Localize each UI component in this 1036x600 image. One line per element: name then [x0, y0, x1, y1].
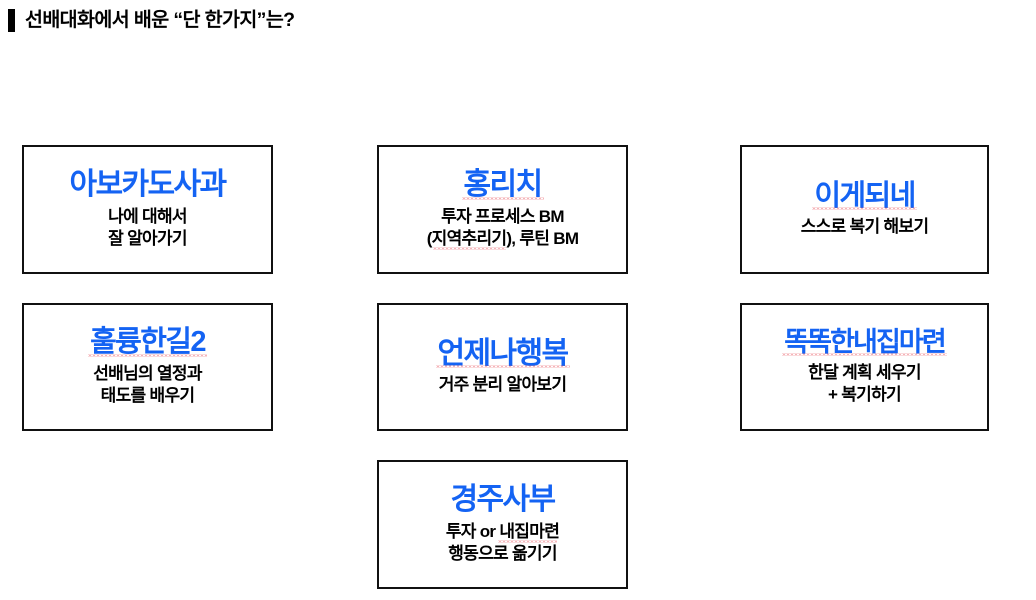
card-eonjenahaengbok[interactable]: 언제나행복 거주 분리 알아보기 [377, 303, 628, 431]
card-description: 스스로 복기 해보기 [801, 216, 929, 238]
card-nickname: 아보카도사과 [70, 169, 226, 201]
card-description-line: 행동으로 옮기기 [446, 543, 559, 565]
card-description-line: 스스로 복기 해보기 [801, 216, 929, 238]
card-hongrich[interactable]: 홍리치 투자 프로세스 BM (지역추리기), 루틴 BM [377, 145, 628, 274]
card-description-line: 선배님의 열정과 [93, 363, 202, 385]
card-gyeongjusabu[interactable]: 경주사부 투자 or 내집마련 행동으로 옮기기 [377, 460, 628, 589]
card-grid: 아보카도사과 나에 대해서 잘 알아가기 홍리치 투자 프로세스 BM (지역추… [0, 0, 1036, 600]
card-ttokttokhannaejibmaryeon[interactable]: 똑똑한내집마련 한달 계획 세우기 + 복기하기 [740, 303, 989, 431]
card-description-line: 태도를 배우기 [93, 385, 202, 407]
card-description: 거주 분리 알아보기 [439, 374, 567, 396]
card-description: 투자 or 내집마련 행동으로 옮기기 [446, 521, 559, 565]
card-nickname: 훌륭한길2 [90, 327, 205, 358]
card-description: 한달 계획 세우기 + 복기하기 [808, 362, 921, 406]
card-description: 투자 프로세스 BM (지역추리기), 루틴 BM [427, 206, 579, 250]
card-description: 선배님의 열정과 태도를 배우기 [93, 363, 202, 407]
card-nickname: 언제나행복 [438, 338, 568, 370]
card-nickname: 홍리치 [464, 169, 542, 201]
card-description: 나에 대해서 잘 알아가기 [108, 206, 187, 250]
card-nickname: 경주사부 [451, 484, 555, 516]
card-avocado-apple[interactable]: 아보카도사과 나에 대해서 잘 알아가기 [22, 145, 273, 274]
card-description-line: + 복기하기 [808, 384, 921, 406]
card-nickname: 똑똑한내집마련 [784, 328, 945, 357]
card-igedoene[interactable]: 이게되네 스스로 복기 해보기 [740, 145, 989, 274]
card-hullyunghangil2[interactable]: 훌륭한길2 선배님의 열정과 태도를 배우기 [22, 303, 273, 431]
card-description-line: 나에 대해서 [108, 206, 187, 228]
card-description-line: (지역추리기), 루틴 BM [427, 228, 579, 250]
card-description-line: 거주 분리 알아보기 [439, 374, 567, 396]
card-description-line: 투자 or 내집마련 [446, 521, 559, 543]
card-description-line: 잘 알아가기 [108, 228, 187, 250]
card-description-line: 한달 계획 세우기 [808, 362, 921, 384]
card-description-line: 투자 프로세스 BM [427, 206, 579, 228]
card-nickname: 이게되네 [814, 181, 914, 212]
